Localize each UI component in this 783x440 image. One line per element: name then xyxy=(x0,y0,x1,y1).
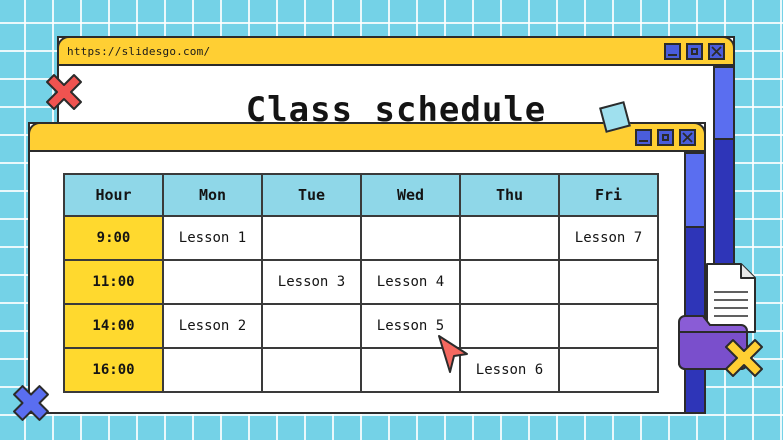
column-header-tue: Tue xyxy=(262,174,361,216)
lesson-cell[interactable]: Lesson 4 xyxy=(361,260,460,304)
minimize-icon[interactable] xyxy=(635,129,652,146)
lesson-cell[interactable]: Lesson 1 xyxy=(163,216,262,260)
lesson-cell[interactable] xyxy=(559,348,658,392)
close-icon[interactable] xyxy=(679,129,696,146)
table-row: 9:00 Lesson 1 Lesson 7 xyxy=(64,216,658,260)
lesson-cell[interactable]: Lesson 2 xyxy=(163,304,262,348)
blue-plus-decoration xyxy=(10,382,52,424)
lesson-cell[interactable] xyxy=(361,216,460,260)
titlebar-back: https://slidesgo.com/ xyxy=(57,36,735,66)
browser-window-front[interactable]: Hour Mon Tue Wed Thu Fri 9:00 Lesson 1 L… xyxy=(28,122,706,414)
red-cross-decoration xyxy=(44,72,84,112)
table-row: 14:00 Lesson 2 Lesson 5 xyxy=(64,304,658,348)
url-text[interactable]: https://slidesgo.com/ xyxy=(67,45,210,58)
table-row: 16:00 Lesson 6 xyxy=(64,348,658,392)
class-schedule-table: Hour Mon Tue Wed Thu Fri 9:00 Lesson 1 L… xyxy=(63,173,659,393)
lesson-cell[interactable] xyxy=(262,216,361,260)
yellow-cross-decoration xyxy=(722,336,766,380)
lesson-cell[interactable] xyxy=(262,304,361,348)
lesson-cell[interactable]: Lesson 3 xyxy=(262,260,361,304)
column-header-wed: Wed xyxy=(361,174,460,216)
column-header-fri: Fri xyxy=(559,174,658,216)
column-header-thu: Thu xyxy=(460,174,559,216)
window-controls-front xyxy=(635,129,696,146)
lesson-cell[interactable]: Lesson 7 xyxy=(559,216,658,260)
lesson-cell[interactable] xyxy=(559,260,658,304)
lesson-cell[interactable]: Lesson 6 xyxy=(460,348,559,392)
lesson-cell[interactable] xyxy=(559,304,658,348)
scrollbar-front[interactable] xyxy=(684,152,706,414)
hour-cell: 9:00 xyxy=(64,216,163,260)
minimize-icon[interactable] xyxy=(664,43,681,60)
lesson-cell[interactable] xyxy=(460,304,559,348)
hour-cell: 16:00 xyxy=(64,348,163,392)
hour-cell: 11:00 xyxy=(64,260,163,304)
close-icon[interactable] xyxy=(708,43,725,60)
hour-cell: 14:00 xyxy=(64,304,163,348)
scrollbar-thumb-front[interactable] xyxy=(686,154,704,228)
maximize-icon[interactable] xyxy=(657,129,674,146)
lesson-cell[interactable] xyxy=(163,348,262,392)
table-row: 11:00 Lesson 3 Lesson 4 xyxy=(64,260,658,304)
mouse-cursor xyxy=(436,334,470,374)
lesson-cell[interactable] xyxy=(460,260,559,304)
lesson-cell[interactable] xyxy=(262,348,361,392)
column-header-hour: Hour xyxy=(64,174,163,216)
scrollbar-thumb-back[interactable] xyxy=(715,68,733,140)
table-header-row: Hour Mon Tue Wed Thu Fri xyxy=(64,174,658,216)
scrollbar-back[interactable] xyxy=(713,66,735,286)
window-controls-back xyxy=(664,43,725,60)
maximize-icon[interactable] xyxy=(686,43,703,60)
lesson-cell[interactable] xyxy=(163,260,262,304)
lesson-cell[interactable] xyxy=(460,216,559,260)
column-header-mon: Mon xyxy=(163,174,262,216)
